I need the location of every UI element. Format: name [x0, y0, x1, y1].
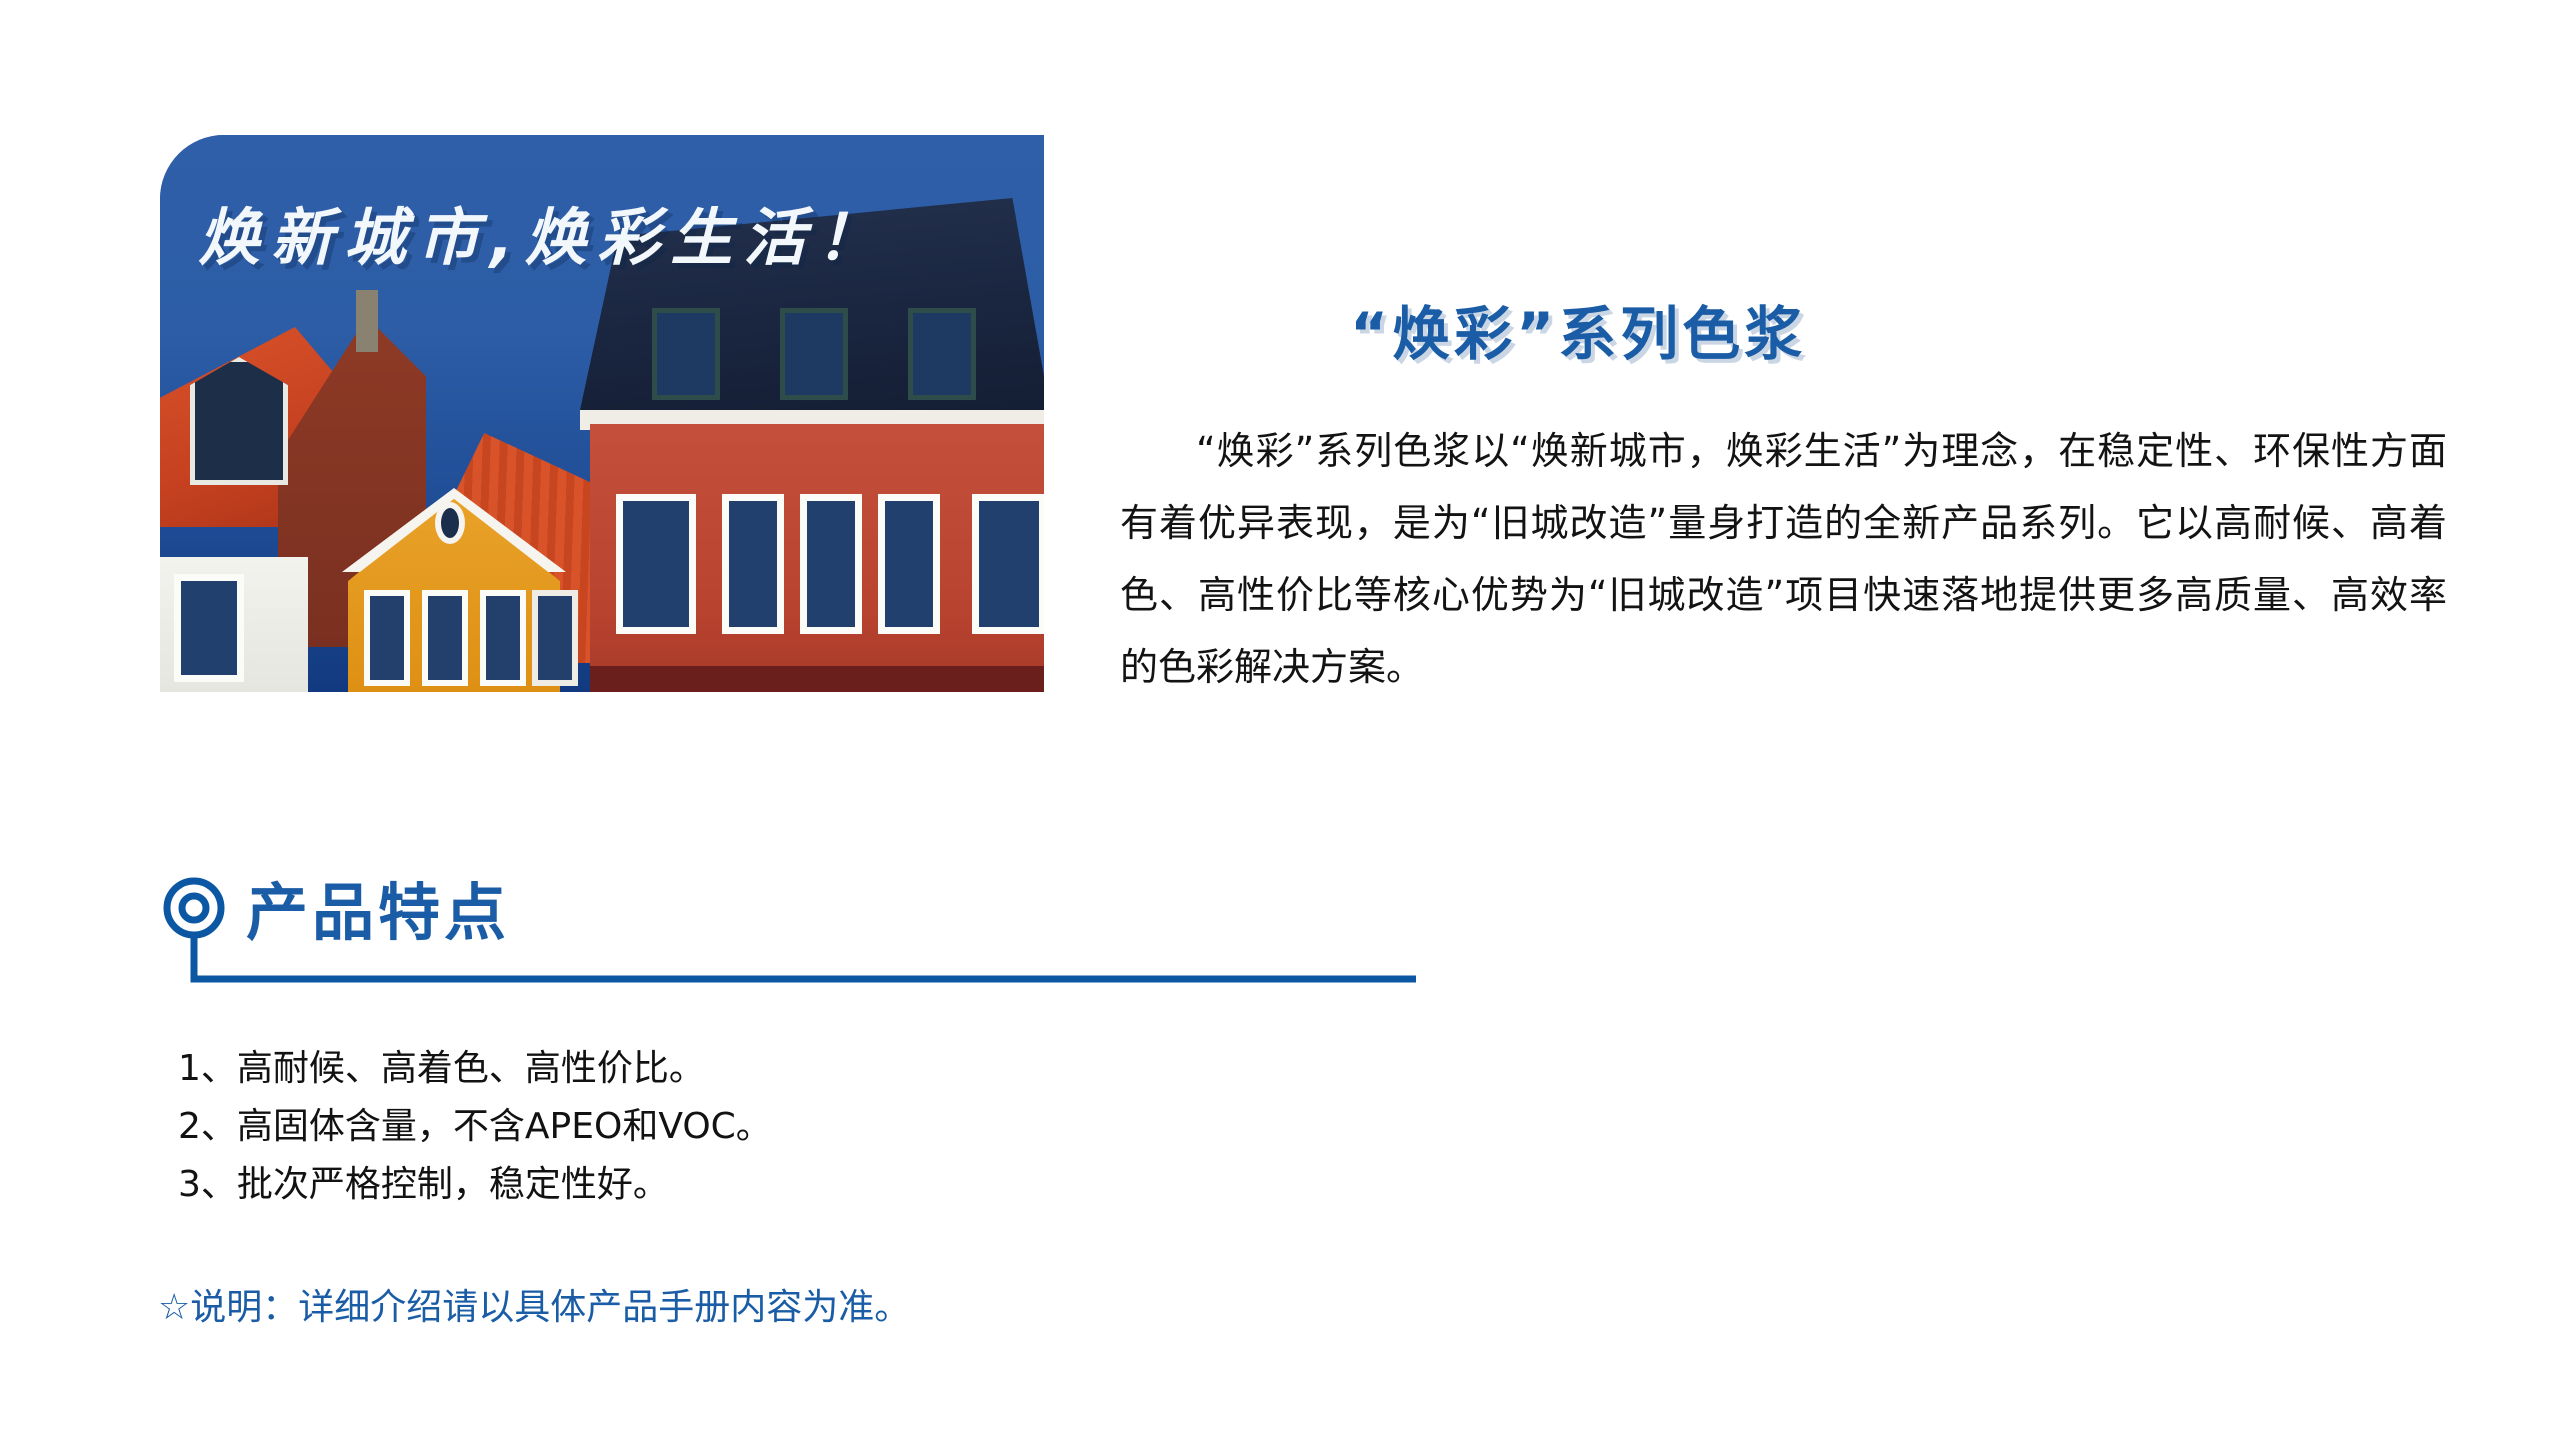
red-building-base [590, 666, 1044, 692]
white-house-window [174, 574, 244, 682]
disclaimer-note: ☆说明：详细介绍请以具体产品手册内容为准。 [158, 1278, 910, 1330]
red-building-window [878, 494, 940, 634]
roof-dormer-window [652, 308, 720, 400]
red-building-window [722, 494, 784, 634]
hero-banner-text: 焕新城市,焕彩生活！ [198, 187, 1018, 277]
list-item: 1、高耐候、高着色、高性价比。 [178, 1040, 1578, 1098]
list-item: 2、高固体含量，不含APEO和VOC。 [178, 1098, 1578, 1156]
product-title: “焕彩”系列色浆 [1350, 287, 2450, 371]
yellow-house-oval-window [435, 502, 465, 544]
product-description: “焕彩”系列色浆以“焕新城市，焕彩生活”为理念，在稳定性、环保性方面有着优异表现… [1120, 415, 2447, 703]
hero-image: 焕新城市,焕彩生活！ [160, 135, 1044, 692]
roof-dormer-window [908, 308, 976, 400]
red-building-window [616, 494, 696, 634]
yellow-house-window [422, 590, 468, 686]
chimney [356, 290, 378, 352]
section-header: 产品特点 [160, 862, 1420, 992]
red-building-window [972, 494, 1044, 634]
yellow-house-window [480, 590, 526, 686]
roof-dormer-window [780, 308, 848, 400]
list-item: 3、批次严格控制，稳定性好。 [178, 1156, 1578, 1214]
section-title-label: 产品特点 [246, 862, 510, 952]
red-building-window [800, 494, 862, 634]
yellow-house-window [532, 590, 578, 686]
yellow-house-window [364, 590, 410, 686]
feature-list: 1、高耐候、高着色、高性价比。 2、高固体含量，不含APEO和VOC。 3、批次… [178, 1040, 1578, 1214]
